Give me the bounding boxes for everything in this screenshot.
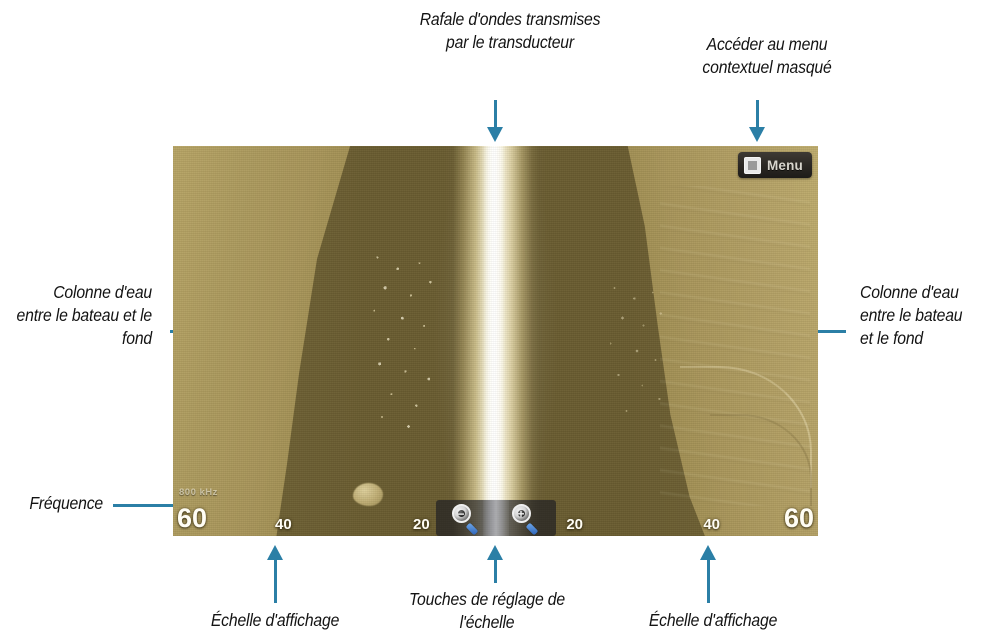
magnifier-handle-left (465, 523, 478, 536)
callout-frequency: Fréquence (10, 492, 103, 515)
arrow-bottom-center (487, 545, 504, 583)
beam-wash-overlay (483, 500, 509, 536)
magnifier-plus-icon: + (512, 504, 531, 523)
menu-button[interactable]: Menu (738, 152, 812, 178)
arrow-bottom-left-scale (267, 545, 284, 603)
scale-label-left-60: 60 (177, 505, 207, 532)
callout-top-right: Accéder au menu contextuel masqué (682, 33, 853, 79)
sonar-display[interactable]: Menu 800 kHz 60 40 20 20 40 60 − + (173, 146, 818, 536)
fish-cluster-right (604, 276, 670, 426)
bottom-object (353, 483, 383, 506)
zoom-in-sign: + (517, 508, 524, 520)
callout-left-middle: Colonne d'eau entre le bateau et le fond (15, 281, 152, 350)
scale-label-right-60: 60 (784, 505, 814, 532)
scale-label-right-40: 40 (703, 517, 720, 532)
callout-bottom-right-scale: Échelle d'affichage (641, 609, 785, 632)
zoom-in-button[interactable]: + (511, 503, 541, 533)
callout-bottom-center: Touches de réglage de l'échelle (384, 588, 591, 634)
arrow-top-center (487, 100, 504, 142)
fish-cluster-left (368, 246, 446, 436)
scale-label-right-20: 20 (566, 517, 583, 532)
callout-right-middle: Colonne d'eau entre le bateau et le fond (860, 281, 977, 350)
magnifier-minus-icon: − (452, 504, 471, 523)
zoom-out-sign: − (457, 508, 464, 520)
scale-label-left-40: 40 (275, 517, 292, 532)
transducer-beam-core (483, 146, 505, 536)
scale-label-left-20: 20 (413, 517, 430, 532)
magnifier-handle-right (525, 523, 538, 536)
scale-adjust-keys[interactable]: − + (436, 500, 556, 536)
callout-bottom-left-scale: Échelle d'affichage (203, 609, 347, 632)
frequency-readout: 800 kHz (179, 487, 218, 498)
arrow-top-right (749, 100, 766, 142)
arrow-bottom-right-scale (700, 545, 717, 603)
callout-top-center: Rafale d'ondes transmises par le transdu… (411, 8, 609, 54)
zoom-out-button[interactable]: − (451, 503, 481, 533)
menu-square-icon (744, 157, 761, 174)
menu-button-label: Menu (767, 158, 803, 173)
